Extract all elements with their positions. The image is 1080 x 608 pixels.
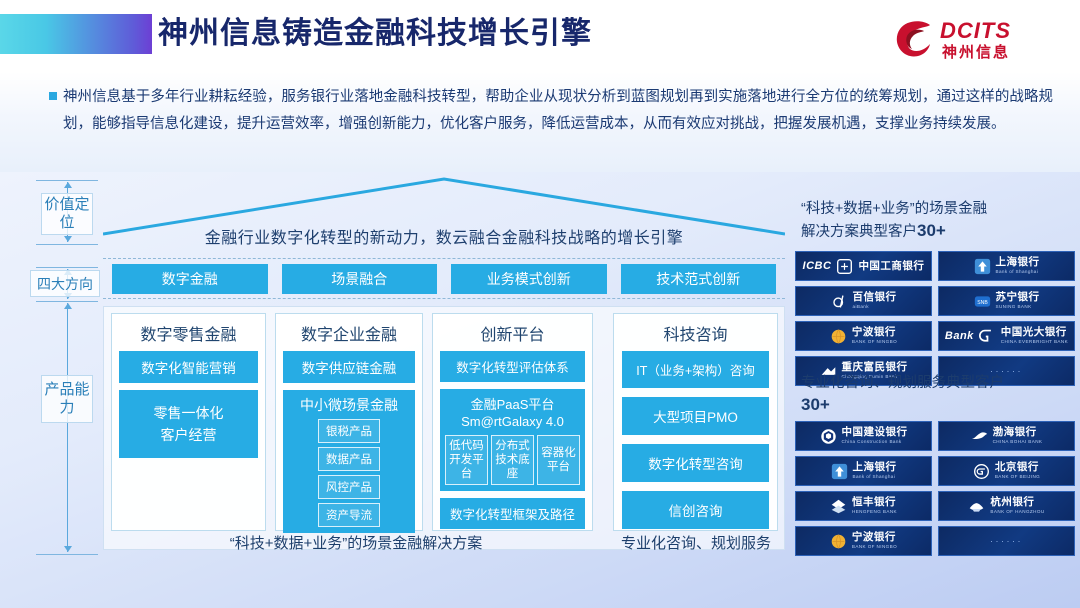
ccb-icon (820, 428, 837, 445)
axis-label-text: 价值定位 (42, 196, 92, 232)
consult-item-pmo[interactable]: 大型项目PMO (622, 397, 769, 435)
logo-name-cn: 恒丰银行 (852, 497, 896, 508)
product-column-title: 数字零售金融 (119, 319, 258, 351)
axis-arrow-capability (67, 303, 68, 552)
logo-text: 中国建设银行China Construction Bank (842, 427, 908, 444)
customer-logo-cell: ICBC中国工商银行 (795, 251, 932, 281)
section-divider (103, 258, 785, 259)
product-item-label: 数字化智能营销 (141, 357, 236, 377)
product-item-label-line1: 零售一体化 (154, 402, 224, 424)
product-column-enterprise: 数字企业金融 数字供应链金融 中小微场景金融 银税产品 数据产品 风控产品 资产… (275, 313, 423, 531)
product-column-consulting: 科技咨询 IT（业务+架构）咨询 大型项目PMO 数字化转型咨询 信创咨询 (613, 313, 778, 531)
ellipsis-icon: ······ (990, 536, 1023, 546)
product-item-label-line2: 客户经营 (161, 424, 217, 446)
logo-name-en: aiBank (853, 305, 869, 310)
axis-rule (36, 301, 98, 302)
logo-text: 苏宁银行SUNING BANK (996, 292, 1040, 309)
logo-text: 宁波银行BANK OF NINGBO (852, 532, 897, 549)
consult-item-it-consulting[interactable]: IT（业务+架构）咨询 (622, 351, 769, 388)
logo-wordmark: ICBC (803, 260, 832, 272)
logo-text: 杭州银行BANK OF HANGZHOU (990, 497, 1044, 514)
logo-name-cn: 中国工商银行 (858, 261, 924, 272)
customer-group1-heading-line1: “科技+数据+业务”的场景金融 (801, 198, 1069, 220)
product-mini-label: 资产导流 (326, 510, 372, 522)
customer-logo-cell: 渤海银行CHINA BOHAI BANK (938, 421, 1075, 451)
logo-name-en: CHINA BOHAI BANK (993, 440, 1043, 445)
caption-consulting-planning-service: 专业化咨询、规划服务 (610, 532, 782, 553)
logo-name-en: BANK OF NINGBO (852, 545, 897, 550)
axis-rule (36, 267, 98, 268)
logo-name-en: HENGFENG BANK (852, 510, 897, 515)
product-group-sme-scenario-finance: 中小微场景金融 银税产品 数据产品 风控产品 资产导流 (283, 390, 415, 533)
logo-text: 百信银行aiBank (853, 292, 897, 309)
customer-group1-heading-line2: 解决方案典型客户30+ (801, 220, 1069, 243)
logo-name-cn: 上海银行 (996, 257, 1040, 268)
customer-group2-heading-line1: 专业化咨询、规划服务典型客户 (801, 372, 1069, 394)
axis-rule (36, 244, 98, 245)
customer-logo-cell: Bank中国光大银行CHINA EVERBRIGHT BANK (938, 321, 1075, 351)
product-item-transformation-framework[interactable]: 数字化转型框架及路径 (440, 498, 585, 529)
logo-wordmark: Bank (945, 330, 974, 342)
product-mini-data[interactable]: 数据产品 (318, 447, 380, 471)
logo-name-en: Bank of Shanghai (996, 270, 1039, 275)
product-mini-riskctrl[interactable]: 风控产品 (318, 475, 380, 499)
logo-name-en: China Construction Bank (842, 440, 902, 445)
aibank-icon (831, 293, 848, 310)
customer-logo-cell: 北京银行BANK OF BEIJING (938, 456, 1075, 486)
value-proposition-banner: 金融行业数字化转型的新动力，数云融合金融科技战略的增长引擎 (103, 214, 785, 258)
logo-name-cn: 百信银行 (853, 292, 897, 303)
diagram-canvas: 价值定位 四大方向 产品能力 金融行业数字化转型的新动力，数云融合金融科技战略的… (0, 172, 1080, 608)
customer-logo-cell: 上海银行Bank of Shanghai (938, 251, 1075, 281)
product-columns: 数字零售金融 数字化智能营销 零售一体化 客户经营 数字企业金融 数字供应链金融… (111, 313, 601, 531)
customer-group1-heading: “科技+数据+业务”的场景金融 解决方案典型客户30+ (795, 198, 1075, 243)
product-group-title: 金融PaaS平台 Sm@rtGalaxy 4.0 (445, 394, 580, 435)
product-mini-container[interactable]: 容器化平台 (537, 435, 580, 485)
bank-of-shanghai-icon (831, 463, 848, 480)
product-mini-distributed[interactable]: 分布式技术底座 (491, 435, 534, 485)
logo-text: 恒丰银行HENGFENG BANK (852, 497, 897, 514)
product-mini-label: 低代码开发平台 (449, 440, 484, 480)
product-mini-tax[interactable]: 银税产品 (318, 419, 380, 443)
direction-chip-label: 业务模式创新 (487, 269, 571, 289)
customer-logo-cell: 上海银行Bank of Shanghai (795, 456, 932, 486)
product-mini-label: 风控产品 (326, 482, 372, 494)
consult-item-xinchuang[interactable]: 信创咨询 (622, 491, 769, 529)
axis-rule (36, 554, 98, 555)
logo-name-en: SUNING BANK (996, 305, 1032, 310)
brand-name-cn: 神州信息 (942, 41, 1010, 62)
intro-bullet-icon (49, 92, 57, 100)
customer-logo-cell: 宁波银行BANK OF NINGBO (795, 526, 932, 556)
product-column-retail: 数字零售金融 数字化智能营销 零售一体化 客户经营 (111, 313, 266, 531)
consult-item-label: 大型项目PMO (653, 406, 738, 426)
product-item-smart-marketing[interactable]: 数字化智能营销 (119, 351, 258, 383)
logo-text: 宁波银行BANK OF NINGBO (852, 327, 897, 344)
logo-name-en: Bank of Shanghai (853, 475, 896, 480)
axis-label-four-directions: 四大方向 (30, 270, 100, 297)
product-mini-label: 分布式技术底座 (495, 440, 530, 480)
logo-text: 渤海银行CHINA BOHAI BANK (993, 427, 1043, 444)
logo-name-cn: 北京银行 (995, 462, 1039, 473)
intro-paragraph: 神州信息基于多年行业耕耘经验，服务银行业落地金融科技转型，帮助企业从现状分析到蓝… (63, 84, 1053, 138)
customer-logo-cell: 杭州银行BANK OF HANGZHOU (938, 491, 1075, 521)
customer-logo-cell: SNB苏宁银行SUNING BANK (938, 286, 1075, 316)
product-column-title: 科技咨询 (622, 319, 769, 351)
customer-logo-cell: 百信银行aiBank (795, 286, 932, 316)
customer-panel: “科技+数据+业务”的场景金融 解决方案典型客户30+ ICBC中国工商银行上海… (795, 176, 1075, 552)
logo-name-cn: 苏宁银行 (996, 292, 1040, 303)
page-title: 神州信息铸造金融科技增长引擎 (158, 13, 592, 55)
logo-name-cn: 宁波银行 (852, 327, 896, 338)
logo-text: 中国光大银行CHINA EVERBRIGHT BANK (1001, 327, 1068, 344)
logo-name-cn: 中国光大银行 (1001, 327, 1067, 338)
consult-item-digital-transformation[interactable]: 数字化转型咨询 (622, 444, 769, 482)
product-column-innovation: 创新平台 数字化转型评估体系 金融PaaS平台 Sm@rtGalaxy 4.0 … (432, 313, 593, 531)
bank-of-ningbo-icon (830, 533, 847, 550)
icbc-icon (836, 258, 853, 275)
consult-item-label: 数字化转型咨询 (648, 453, 743, 473)
product-column-title: 创新平台 (440, 319, 585, 351)
axis-rule (36, 180, 98, 181)
logo-text: 中国工商银行 (858, 261, 924, 272)
product-item-retail-integration[interactable]: 零售一体化 客户经营 (119, 390, 258, 458)
customer-logo-cell: 宁波银行BANK OF NINGBO (795, 321, 932, 351)
product-mini-label: 数据产品 (326, 454, 372, 466)
value-proposition-text: 金融行业数字化转型的新动力，数云融合金融科技战略的增长引擎 (205, 224, 684, 248)
product-group-title: 中小微场景金融 (288, 395, 410, 419)
product-group-title-line2: Sm@rtGalaxy 4.0 (445, 413, 580, 430)
logo-text: 上海银行Bank of Shanghai (853, 462, 897, 479)
logo-name-en: BANK OF HANGZHOU (990, 510, 1044, 515)
product-mini-label: 容器化平台 (540, 446, 577, 474)
logo-text: 上海银行Bank of Shanghai (996, 257, 1040, 274)
everbright-icon (979, 328, 996, 345)
customer-logo-grid-2: 中国建设银行China Construction Bank渤海银行CHINA B… (795, 421, 1075, 556)
bank-of-beijing-icon (973, 463, 990, 480)
customer-logo-grid-1: ICBC中国工商银行上海银行Bank of Shanghai百信银行aiBank… (795, 251, 1075, 386)
svg-text:SNB: SNB (977, 300, 988, 306)
logo-name-cn: 中国建设银行 (842, 427, 908, 438)
product-column-title: 数字企业金融 (283, 319, 415, 351)
logo-name-cn: 杭州银行 (990, 497, 1034, 508)
axis-label-text: 四大方向 (37, 275, 93, 293)
suning-icon: SNB (974, 293, 991, 310)
bohai-icon (971, 428, 988, 445)
product-mini-label: 银税产品 (326, 426, 372, 438)
customer-logo-cell: 中国建设银行China Construction Bank (795, 421, 932, 451)
logo-text: 北京银行BANK OF BEIJING (995, 462, 1040, 479)
direction-chip-digital-finance[interactable]: 数字金融 (112, 264, 268, 294)
product-mini-grid: 低代码开发平台 分布式技术底座 容器化平台 (445, 435, 580, 485)
product-item-label: 数字化转型评估体系 (456, 357, 569, 376)
customer-logo-cell: 恒丰银行HENGFENG BANK (795, 491, 932, 521)
axis-label-product-capability: 产品能力 (41, 375, 93, 423)
direction-chip-scenario-fusion[interactable]: 场景融合 (282, 264, 438, 294)
consult-item-label: 信创咨询 (669, 500, 723, 520)
product-mini-lowcode[interactable]: 低代码开发平台 (445, 435, 488, 485)
customer-logo-more: ······ (938, 526, 1075, 556)
axis-label-text: 产品能力 (42, 381, 92, 417)
customer-group2-heading-line2: 30+ (801, 394, 1069, 417)
direction-chip-label: 场景融合 (331, 269, 387, 289)
direction-chip-tech-paradigm-innovation[interactable]: 技术范式创新 (621, 264, 777, 294)
four-directions-row: 数字金融 场景融合 业务模式创新 技术范式创新 (112, 264, 776, 294)
product-mini-asset-routing[interactable]: 资产导流 (318, 503, 380, 527)
hengfeng-icon (830, 498, 847, 515)
logo-name-cn: 宁波银行 (852, 532, 896, 543)
consult-item-label: IT（业务+架构）咨询 (636, 360, 754, 379)
logo-name-cn: 渤海银行 (993, 427, 1037, 438)
dcits-swoosh-icon (894, 20, 934, 58)
customer-group1-count: 30+ (917, 221, 946, 240)
caption-scenario-finance-solution: “科技+数据+业务”的场景金融解决方案 (111, 532, 601, 553)
product-item-label: 数字化转型框架及路径 (450, 504, 575, 523)
logo-name-cn: 上海银行 (853, 462, 897, 473)
product-item-label: 数字供应链金融 (302, 357, 397, 377)
bank-of-hangzhou-icon (968, 498, 985, 515)
bank-of-shanghai-icon (974, 258, 991, 275)
title-accent-bar (0, 14, 152, 54)
logo-name-en: BANK OF NINGBO (852, 340, 897, 345)
customer-group1-heading-text: 解决方案典型客户 (801, 224, 917, 240)
dcits-logo: DCITS 神州信息 (894, 18, 1044, 62)
axis-label-value-positioning: 价值定位 (41, 193, 93, 235)
direction-chip-label: 数字金融 (162, 269, 218, 289)
product-group-paas-platform: 金融PaaS平台 Sm@rtGalaxy 4.0 低代码开发平台 分布式技术底座… (440, 389, 585, 491)
product-mini-grid: 银税产品 数据产品 风控产品 资产导流 (288, 419, 410, 527)
direction-chip-business-model-innovation[interactable]: 业务模式创新 (451, 264, 607, 294)
customer-group2-heading: 专业化咨询、规划服务典型客户 30+ (795, 372, 1075, 417)
logo-name-en: CHINA EVERBRIGHT BANK (1001, 340, 1068, 345)
product-item-supply-chain-finance[interactable]: 数字供应链金融 (283, 351, 415, 383)
section-divider (103, 298, 785, 299)
direction-chip-label: 技术范式创新 (656, 269, 740, 289)
product-group-title-line1: 金融PaaS平台 (445, 396, 580, 413)
product-item-assessment-system[interactable]: 数字化转型评估体系 (440, 351, 585, 382)
bank-of-ningbo-icon (830, 328, 847, 345)
customer-group2-count: 30+ (801, 395, 830, 414)
page-header: 神州信息铸造金融科技增长引擎 DCITS 神州信息 (0, 0, 1080, 72)
logo-name-en: BANK OF BEIJING (995, 475, 1040, 480)
